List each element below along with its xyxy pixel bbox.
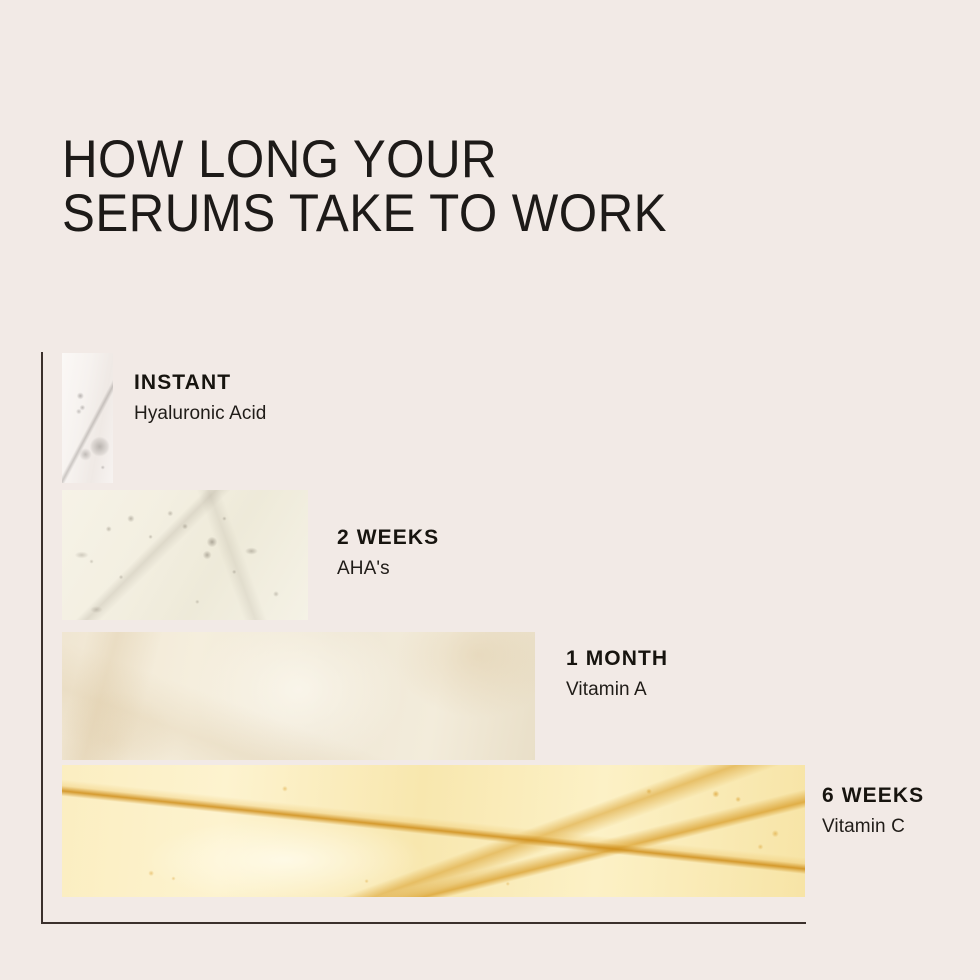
ingredient-label: Vitamin A	[566, 678, 668, 702]
ingredient-label: Hyaluronic Acid	[134, 402, 266, 426]
chart-axis-vertical	[41, 352, 43, 924]
golden-serum-texture	[62, 765, 805, 897]
bar-label-6-weeks: 6 WEEKS Vitamin C	[822, 784, 924, 839]
ingredient-label: AHA's	[337, 557, 439, 581]
bar-6-weeks	[62, 765, 805, 897]
chart-axis-horizontal	[41, 922, 806, 924]
infographic-canvas: HOW LONG YOUR SERUMS TAKE TO WORK INSTAN…	[0, 0, 980, 980]
duration-label: 1 MONTH	[566, 647, 668, 671]
ingredient-label: Vitamin C	[822, 815, 924, 839]
bar-2-weeks	[62, 490, 308, 620]
creamy-bubble-gel-texture	[62, 490, 308, 620]
duration-label: 2 WEEKS	[337, 526, 439, 550]
smooth-cream-texture	[62, 632, 535, 760]
bar-label-1-month: 1 MONTH Vitamin A	[566, 647, 668, 702]
bar-instant	[62, 353, 113, 483]
bar-label-2-weeks: 2 WEEKS AHA's	[337, 526, 439, 581]
bar-1-month	[62, 632, 535, 760]
page-title: HOW LONG YOUR SERUMS TAKE TO WORK	[62, 133, 825, 241]
clear-gel-texture	[62, 353, 113, 483]
duration-label: 6 WEEKS	[822, 784, 924, 808]
duration-label: INSTANT	[134, 371, 266, 395]
bar-label-instant: INSTANT Hyaluronic Acid	[134, 371, 266, 426]
